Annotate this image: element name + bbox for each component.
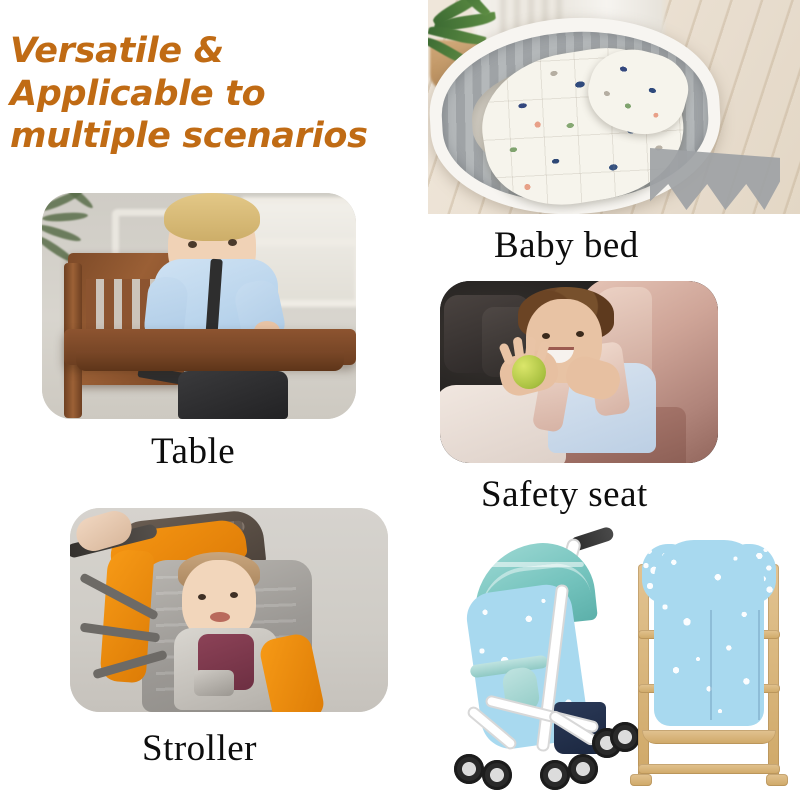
panel-stroller [70,508,388,712]
liner-seam [710,610,760,720]
chair-footrest [642,730,776,744]
caption-stroller: Stroller [142,727,257,770]
baby-eye-left [188,241,197,248]
baby-eye-right [576,331,584,337]
caption-table: Table [151,430,235,473]
caption-safety-seat: Safety seat [481,473,648,516]
panel-table [42,193,356,419]
baby-eye-right [228,239,237,246]
stroller-wheel [540,760,570,790]
promo-image-canvas: Versatile & Applicable to multiple scena… [0,0,800,800]
chair-foot-left [630,774,652,786]
star-print-seat-liner [654,540,764,726]
baby-hair [164,193,260,241]
baby-eye-left [542,333,550,339]
tray-table-edge [76,351,344,371]
stroller-wheel [568,754,598,784]
harness-buckle [194,670,234,696]
baby-eye-left [198,594,206,600]
headline-text: Versatile & Applicable to multiple scena… [10,30,430,158]
panel-safety-seat [440,281,718,463]
chair-foot-right [766,774,788,786]
baby-eye-right [230,592,238,598]
panel-product-shot [444,524,796,800]
baby-mouth [210,612,230,622]
product-wooden-high-chair [628,534,796,792]
stroller-wheel [454,754,484,784]
green-ball [512,355,546,389]
caption-baby-bed: Baby bed [494,224,639,267]
chair-rail-lower [638,764,780,774]
product-teal-stroller [450,532,630,794]
stroller-wheel [482,760,512,790]
panel-baby-bed [428,0,800,214]
baby-pants [178,371,288,419]
